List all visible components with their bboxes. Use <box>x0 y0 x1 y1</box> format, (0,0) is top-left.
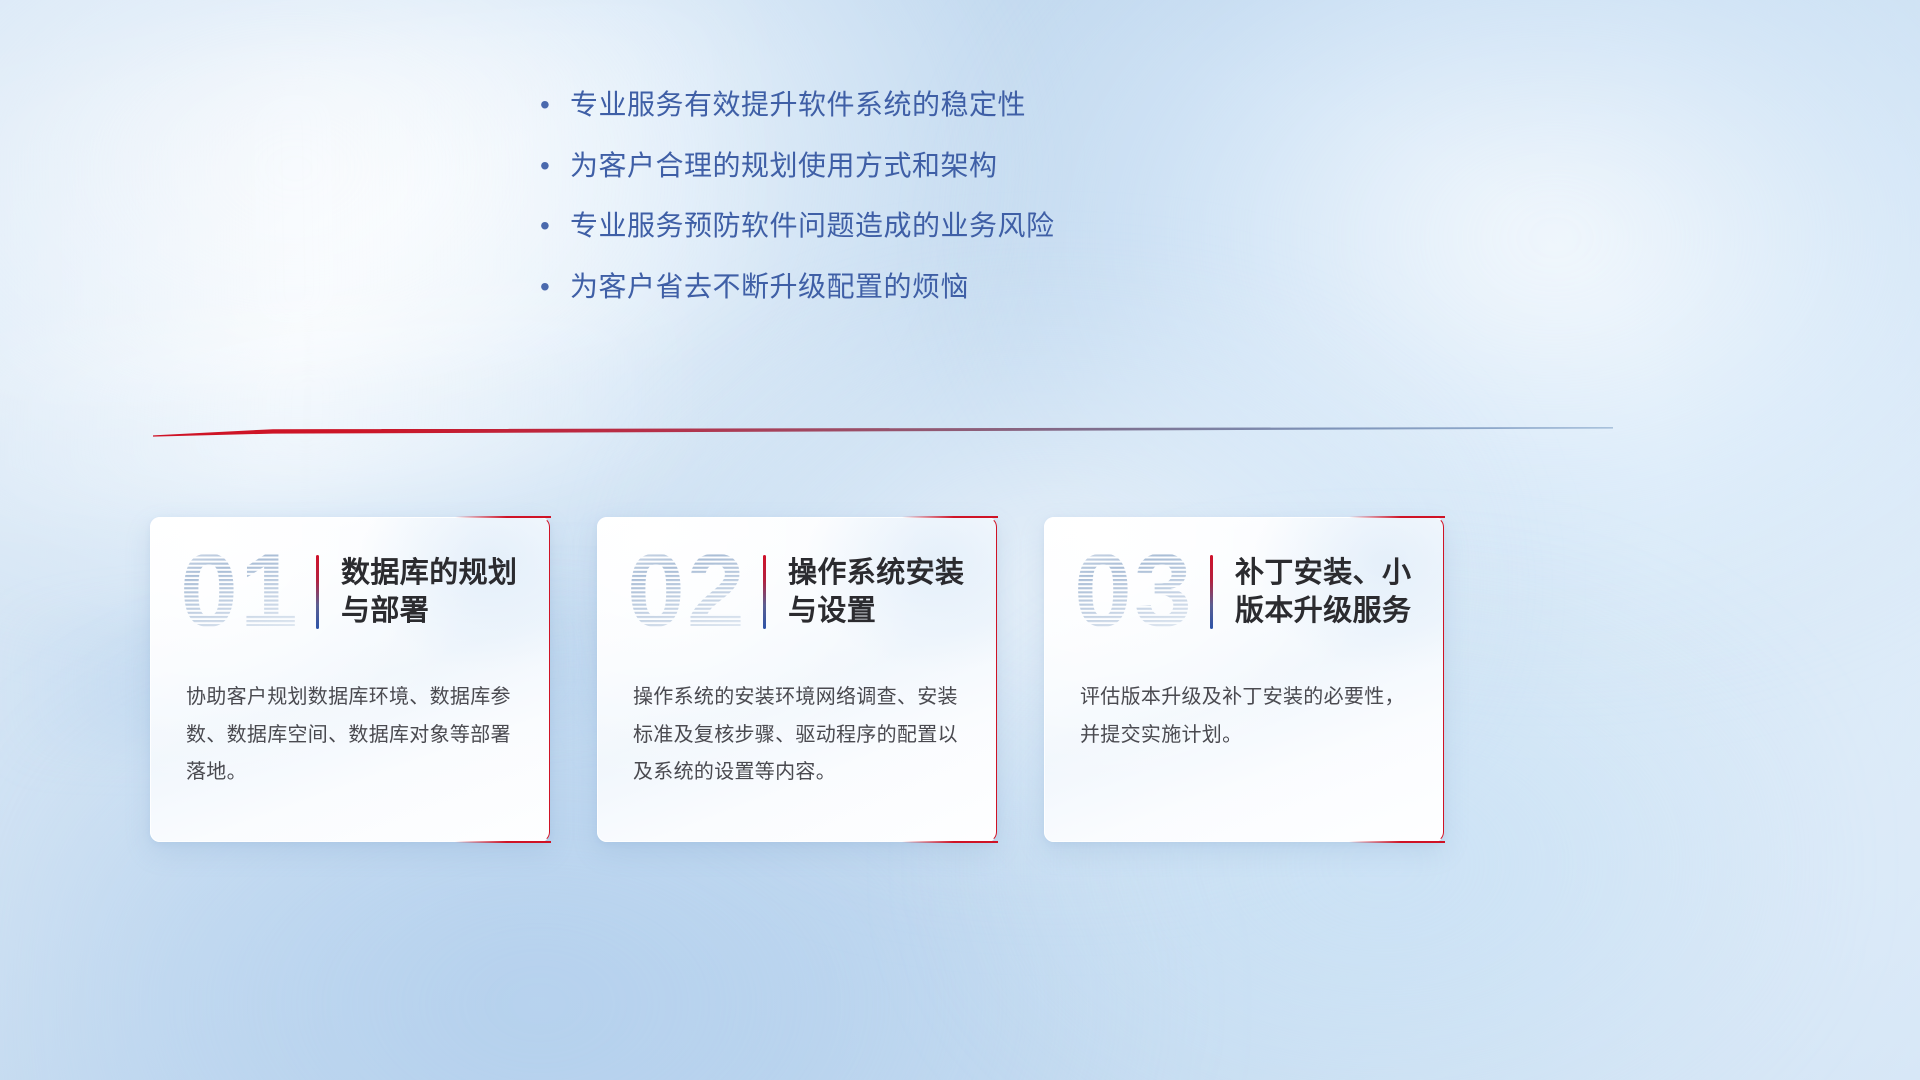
bullet-item-label: 专业服务预防软件问题造成的业务风险 <box>570 207 1340 246</box>
card-title: 数据库的规划与部署 <box>341 554 550 631</box>
service-card-01[interactable]: 01 数据库的规划与部署 协助客户规划数据库环境、数据库参数、数据库空间、数据库… <box>150 517 550 842</box>
svg-text:03: 03 <box>1074 538 1194 646</box>
service-card-02[interactable]: 02 操作系统安装与设置 操作系统的安装环境网络调查、安装标准及复核步骤、驱动程… <box>597 517 997 842</box>
bullet-item-label: 为客户省去不断升级配置的烦恼 <box>570 268 1340 307</box>
card-title-accent-bar <box>316 555 319 629</box>
section-divider <box>153 424 1613 438</box>
card-description: 操作系统的安装环境网络调查、安装标准及复核步骤、驱动程序的配置以及系统的设置等内… <box>633 679 967 792</box>
service-card-row: 01 数据库的规划与部署 协助客户规划数据库环境、数据库参数、数据库空间、数据库… <box>150 517 1770 842</box>
striped-number-glyph: 03 <box>1072 538 1210 646</box>
svg-text:02: 02 <box>627 538 747 646</box>
card-title: 补丁安装、小版本升级服务 <box>1235 554 1444 631</box>
card-title-accent-bar <box>1210 555 1213 629</box>
bullet-dot-icon: • <box>540 86 570 125</box>
bullet-item-3: • 专业服务预防软件问题造成的业务风险 <box>540 207 1340 246</box>
card-description: 协助客户规划数据库环境、数据库参数、数据库空间、数据库对象等部署落地。 <box>186 679 520 792</box>
card-number-02-icon: 02 <box>625 538 763 646</box>
bullet-dot-icon: • <box>540 268 570 307</box>
service-card-03[interactable]: 03 补丁安装、小版本升级服务 评估版本升级及补丁安装的必要性，并提交实施计划。 <box>1044 517 1444 842</box>
bullet-dot-icon: • <box>540 207 570 246</box>
card-number-03-icon: 03 <box>1072 538 1210 646</box>
card-title: 操作系统安装与设置 <box>788 554 997 631</box>
card-description: 评估版本升级及补丁安装的必要性，并提交实施计划。 <box>1080 679 1414 754</box>
card-header: 01 数据库的规划与部署 <box>150 517 550 667</box>
bullet-dot-icon: • <box>540 147 570 186</box>
bullet-item-label: 为客户合理的规划使用方式和架构 <box>570 147 1340 186</box>
card-title-accent-bar <box>763 555 766 629</box>
bullet-item-label: 专业服务有效提升软件系统的稳定性 <box>570 86 1340 125</box>
bullet-list: • 专业服务有效提升软件系统的稳定性 • 为客户合理的规划使用方式和架构 • 专… <box>540 86 1340 329</box>
striped-number-glyph: 02 <box>625 538 763 646</box>
card-header: 03 补丁安装、小版本升级服务 <box>1044 517 1444 667</box>
divider-wedge-icon <box>153 424 1613 438</box>
card-number-01-icon: 01 <box>178 538 316 646</box>
card-header: 02 操作系统安装与设置 <box>597 517 997 667</box>
striped-number-glyph: 01 <box>178 538 316 646</box>
svg-text:01: 01 <box>180 538 300 646</box>
bullet-item-2: • 为客户合理的规划使用方式和架构 <box>540 147 1340 186</box>
bullet-item-1: • 专业服务有效提升软件系统的稳定性 <box>540 86 1340 125</box>
bullet-item-4: • 为客户省去不断升级配置的烦恼 <box>540 268 1340 307</box>
